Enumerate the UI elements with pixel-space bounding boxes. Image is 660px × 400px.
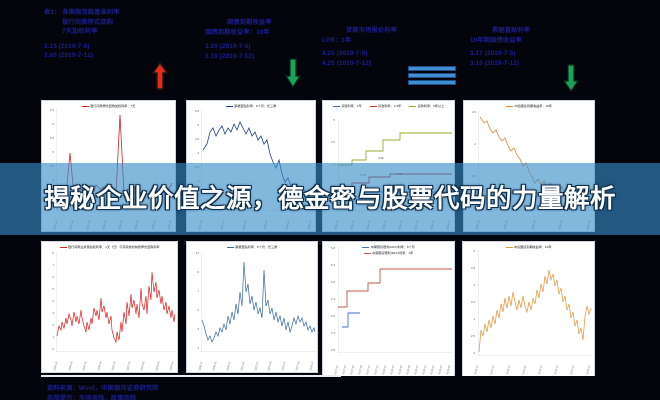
bar-stack-icon <box>408 66 456 85</box>
header-col1-row1-date: (2019-7-5) <box>59 43 90 50</box>
chart-card-5[interactable]: 银行间同业拆借加权利率：1天（日）与存款类机构质押式回购利率 8 7 6 5 4… <box>41 241 178 373</box>
legend-label: 贷款利率：1-5年 <box>378 104 401 109</box>
header-col1-row-2: 3.60 (2019-7-12) <box>44 51 120 61</box>
footer-source-line: 资料来源：Wind，中国银河证券研究院 <box>47 383 159 392</box>
chart-1-ytick: 5.5 <box>43 136 54 140</box>
chart-6-plot <box>201 252 316 352</box>
header-col1-row1-value: 3.15 <box>44 43 57 50</box>
chart-6-ytick: 5 <box>188 308 199 312</box>
chart-4-legend: 中债国债到期收益率：10年 <box>464 104 594 109</box>
legend-item: 贷款利率：1-5年 <box>370 104 402 109</box>
chart-5-ytick: 7 <box>43 263 54 267</box>
header-col4-row1-value: 3.17 <box>470 50 483 57</box>
chart-7-xtick: 2019-06 <box>446 351 455 375</box>
chart-3-legend: 贷款利率：1年 贷款利率：1-5年 贷款利率：5年以上 <box>323 104 454 109</box>
legend-swatch-icon <box>227 247 234 248</box>
legend-label: 银行间同业拆借加权利率：1天（日）与存款类机构质押式回购利率 <box>68 245 159 250</box>
chart-6-ytick: 11 <box>188 251 199 255</box>
legend-swatch-icon <box>506 247 513 248</box>
header-col3-row1-value: 4.25 <box>322 50 335 57</box>
chart-6-xtick: 2018-07 <box>309 349 318 371</box>
header-col4-row2-value: 3.10 <box>470 60 483 67</box>
chart-8-ytick: 5 <box>464 249 475 253</box>
chart-7-ytick: 3.8 <box>324 314 335 318</box>
chart-6-xtick: 2008-01 <box>212 349 221 371</box>
chart-5-ytick: 0 <box>43 347 54 351</box>
down-arrow-icon-2 <box>563 64 579 92</box>
header-col3-heading-1: 贷款市场报价利率 <box>346 26 397 36</box>
header-col1-heading-1: 表1： 各期限贷款基准利率 <box>44 8 120 18</box>
chart-6-xtick: 2015-07 <box>281 349 290 371</box>
bar-segment-3 <box>408 80 456 85</box>
chart-5-xtick: 2014-01 <box>140 349 149 371</box>
chart-1-ytick: 6 <box>43 122 54 126</box>
legend-swatch-icon <box>506 106 513 107</box>
chart-8-ytick: 4.5 <box>464 266 475 270</box>
header-col2-row-1: 3.20 (2019-7-5) <box>205 42 272 52</box>
chart-2-ytick: 5 <box>188 123 199 127</box>
header-col3-row-2: 4.25 (2019-7-12) <box>322 59 397 69</box>
chart-5-xtick: 2006-01 <box>82 349 91 371</box>
chart-6-xtick: 2014-01 <box>268 349 277 371</box>
chart-8-xtick: 2011-01 <box>522 351 531 375</box>
chart-8-xaxis: 2005-01 2007-01 2009-01 2011-01 2013-01 … <box>477 351 592 375</box>
down-arrow-icon-1 <box>285 58 301 88</box>
header-col3-row-1: 4.25 (2019-7-5) <box>322 49 397 59</box>
chart-6-ytick: 9 <box>188 270 199 274</box>
header-col3-heading-2: LPR：1年 <box>322 36 397 46</box>
header-col2-row1-value: 3.20 <box>205 43 218 50</box>
header-col2-row2-value: 3.10 <box>205 53 218 60</box>
chart-8-xtick: 2009-01 <box>506 351 515 375</box>
chart-7-ytick: 4.3 <box>324 297 335 301</box>
header-col4-heading-1: 票据直贴利率 <box>492 26 530 36</box>
chart-5-xtick: 2016-01 <box>155 349 164 371</box>
chart-5-xtick: 2008-01 <box>97 349 106 371</box>
header-column-4: 票据直贴利率 10年期国债收益率 3.17 (2019-7-5) 3.10 (2… <box>470 26 530 68</box>
header-col3-row2-date: (2019-7-12) <box>337 60 372 67</box>
header-col4-row-2: 3.10 (2019-7-12) <box>470 59 530 69</box>
legend-label: 票据直贴利率：6个月：长三角 <box>235 245 277 250</box>
chart-5-xtick: 2018-01 <box>169 349 178 371</box>
header-col1-heading-2: 银行间质押式回购 <box>62 18 120 28</box>
chart-8-xtick: 2017-01 <box>570 351 579 375</box>
chart-5-ytick: 2 <box>43 323 54 327</box>
header-col2-heading-2: 国债到期收益率：10年 <box>205 28 272 38</box>
header-col3-row2-value: 4.25 <box>322 60 335 67</box>
chart-6-ytick: 1 <box>188 346 199 350</box>
chart-8-ytick: 2 <box>464 351 475 355</box>
chart-2-ytick: 4 <box>188 151 199 155</box>
chart-3-ytick: 4.5 <box>324 140 335 144</box>
chart-8-xtick: 2013-01 <box>538 351 547 375</box>
title-banner: 揭秘企业价值之源，德金密与股票代码的力量解析 <box>0 163 660 235</box>
chart-6-ytick: 3 <box>188 327 199 331</box>
legend-swatch-icon <box>82 106 89 107</box>
header-col4-row1-date: (2019-7-5) <box>485 50 516 57</box>
legend-label: 贷款利率：5年以上 <box>418 104 444 109</box>
chart-6-legend: 票据直贴利率：6个月：长三角 <box>187 245 317 250</box>
header-col2-row1-date: (2019-7-5) <box>220 43 251 50</box>
chart-7-ytick: 3.3 <box>324 331 335 335</box>
chart-6-xtick: 2011-01 <box>240 349 249 371</box>
chart-5-ytick: 3 <box>43 311 54 315</box>
header-col2-row-2: 3.10 (2019-7-12) <box>205 52 272 62</box>
chart-5-xaxis: 2002-01 2004-01 2006-01 2008-01 2010-01 … <box>56 349 175 371</box>
up-arrow-icon <box>152 62 168 90</box>
header-column-1: 表1： 各期限贷款基准利率 银行间质押式回购 7天加权利率 3.15 (2019… <box>44 8 120 61</box>
header-col1-row2-value: 3.60 <box>44 52 57 59</box>
chart-6-xtick: 2006-07 <box>198 349 207 371</box>
chart-2-ytick: 4.5 <box>188 137 199 141</box>
header-col2-heading-1: 国债到期收益率 <box>227 18 272 28</box>
chart-2-legend: 票据直贴利率：6个月：长三角 <box>187 104 315 109</box>
chart-3-annotation: 4.55 <box>378 156 383 160</box>
bar-segment-2 <box>408 73 456 78</box>
chart-1-ytick: 6.5 <box>43 108 54 112</box>
legend-item: 银行间同业拆借加权利率：1天（日）与存款类机构质押式回购利率 <box>60 245 160 250</box>
chart-8-ytick: 2.5 <box>464 334 475 338</box>
chart-8-xtick: 2015-01 <box>554 351 563 375</box>
header-col1-row-1: 3.15 (2019-7-5) <box>44 42 120 52</box>
chart-5-xtick: 2012-01 <box>126 349 135 371</box>
header-col4-row-1: 3.17 (2019-7-5) <box>470 49 530 59</box>
chart-card-7[interactable]: 中期借贷便利(MLF)利率：6个月 中期借贷便利(MLF)利率：1年 5.8 5… <box>322 241 455 377</box>
legend-swatch-icon <box>60 247 67 248</box>
chart-7-plot <box>338 247 452 353</box>
chart-6-xtick: 2009-07 <box>226 349 235 371</box>
chart-8-plot <box>478 250 592 356</box>
chart-8-xtick: 2005-01 <box>474 351 483 375</box>
chart-5-xtick: 2002-01 <box>53 349 62 371</box>
chart-5-ytick: 5 <box>43 287 54 291</box>
chart-5-xtick: 2004-01 <box>68 349 77 371</box>
legend-item: 贷款利率：1年 <box>333 104 362 109</box>
chart-5-xtick: 2010-01 <box>111 349 120 371</box>
footer-panel: 资料来源：Wind，中国银河证券研究院 风险提示：市场风险，政策风险 <box>0 376 660 400</box>
chart-4-ytick: 4.5 <box>465 110 476 114</box>
chart-3-ytick: 5 <box>324 118 335 122</box>
chart-5-ytick: 8 <box>43 251 54 255</box>
chart-6-xtick: 2017-01 <box>295 349 304 371</box>
header-col2-row2-date: (2019-7-12) <box>220 53 255 60</box>
chart-8-ytick: 3.5 <box>464 300 475 304</box>
legend-item: 票据直贴利率：6个月：长三角 <box>227 245 277 250</box>
chart-4-ytick: 4 <box>465 142 476 146</box>
footer-risk-line: 风险提示：市场风险，政策风险 <box>47 393 136 400</box>
legend-item: 票据直贴利率：6个月：长三角 <box>226 104 276 109</box>
legend-label: 中债国债到期收益率：10年 <box>515 104 552 109</box>
chart-card-8[interactable]: 中债国债到期收益率：10年 5 4.5 4 3.5 3 2.5 2 2005-0… <box>462 241 595 377</box>
legend-swatch-icon <box>226 106 233 107</box>
chart-7-ytick: 4.8 <box>324 280 335 284</box>
legend-swatch-icon <box>333 106 340 107</box>
legend-label: 贷款利率：1年 <box>341 104 361 109</box>
chart-6-xaxis: 2006-07 2008-01 2009-07 2011-01 2012-07 … <box>201 349 315 371</box>
chart-card-6[interactable]: 票据直贴利率：6个月：长三角 11 9 7 5 3 1 2006-07 2008… <box>186 241 318 373</box>
header-col3-row1-date: (2019-7-5) <box>337 50 368 57</box>
legend-swatch-icon <box>409 106 416 107</box>
header-column-3: 贷款市场报价利率 LPR：1年 4.25 (2019-7-5) 4.25 (20… <box>322 26 397 68</box>
page-title: 揭秘企业价值之源，德金密与股票代码的力量解析 <box>30 182 630 216</box>
chart-7-ytick: 5.8 <box>324 246 335 250</box>
charts-grid: 银行间质押式回购加权利率：7天 6.5 6 5.5 5 4.5 4 3.5 3 … <box>0 96 660 381</box>
chart-5-plot <box>56 252 176 352</box>
chart-8-ytick: 4 <box>464 283 475 287</box>
header-col4-heading-2: 10年期国债收益率 <box>470 36 530 46</box>
header-col4-row2-date: (2019-7-12) <box>485 60 520 67</box>
chart-5-ytick: 6 <box>43 275 54 279</box>
header-col1-row2-date: (2019-7-12) <box>59 52 94 59</box>
legend-swatch-icon <box>370 106 377 107</box>
chart-8-xtick: 2019-01 <box>586 351 595 375</box>
chart-5-legend: 银行间同业拆借加权利率：1天（日）与存款类机构质押式回购利率 <box>42 245 177 250</box>
chart-2-ytick: 5.5 <box>188 109 199 113</box>
bar-segment-1 <box>408 66 456 71</box>
screenshot-root: 表1： 各期限贷款基准利率 银行间质押式回购 7天加权利率 3.15 (2019… <box>0 0 660 400</box>
footer-divider <box>41 375 341 377</box>
legend-item: 贷款利率：5年以上 <box>409 104 444 109</box>
legend-item: 中债国债到期收益率：10年 <box>506 104 552 109</box>
chart-5-ytick: 1 <box>43 335 54 339</box>
chart-1-ytick: 5 <box>43 150 54 154</box>
chart-7-ytick: 2.8 <box>324 348 335 352</box>
header-panel: 表1： 各期限贷款基准利率 银行间质押式回购 7天加权利率 3.15 (2019… <box>0 0 660 96</box>
chart-7-xaxis: 2017-02 2017-04 2017-06 2017-08 2017-10 … <box>337 351 452 375</box>
chart-8-ytick: 3 <box>464 317 475 321</box>
chart-5-ytick: 4 <box>43 299 54 303</box>
legend-label: 票据直贴利率：6个月：长三角 <box>234 104 276 109</box>
header-col1-heading-3: 7天加权利率 <box>62 27 120 37</box>
chart-6-ytick: 7 <box>188 289 199 293</box>
chart-7-ytick: 5.3 <box>324 263 335 267</box>
chart-6-xtick: 2012-07 <box>254 349 263 371</box>
header-column-2: 国债到期收益率 国债到期收益率：10年 3.20 (2019-7-5) 3.10… <box>205 18 272 61</box>
chart-8-xtick: 2007-01 <box>490 351 499 375</box>
